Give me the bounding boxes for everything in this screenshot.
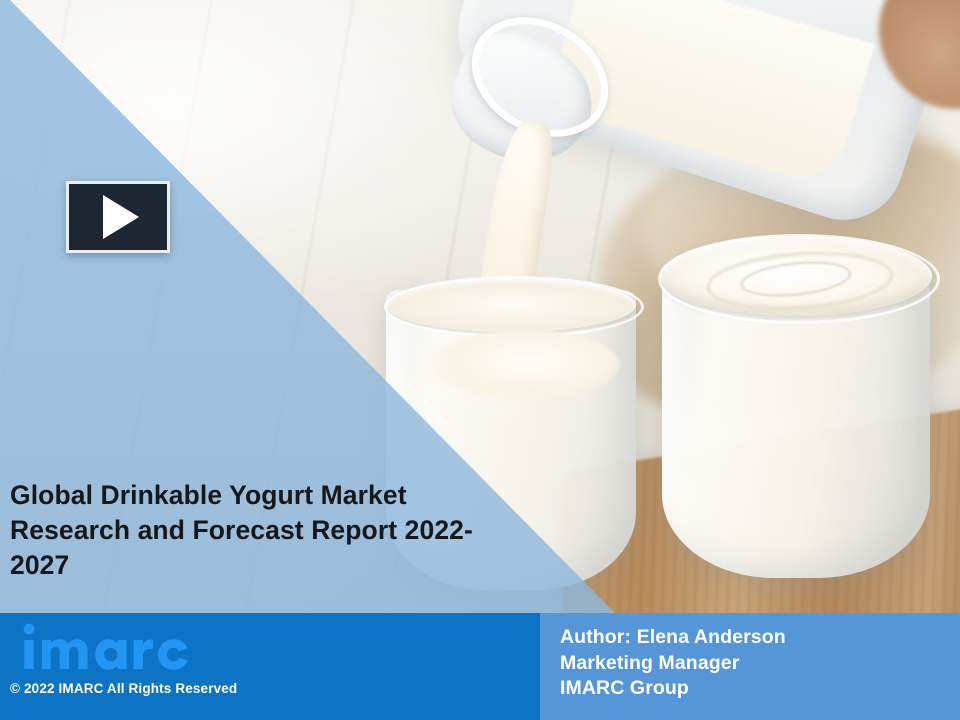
- play-video-button[interactable]: [66, 181, 170, 253]
- copyright-text: © 2022 IMARC All Rights Reserved: [10, 681, 237, 696]
- report-cover-slide: Global Drinkable Yogurt Market Research …: [0, 0, 960, 720]
- author-name-line: Author: Elena Anderson: [552, 625, 960, 651]
- play-triangle-icon: [103, 195, 139, 239]
- milk-splash: [430, 330, 620, 400]
- imarc-logo[interactable]: [16, 621, 196, 673]
- glass-rim-right: [658, 234, 940, 324]
- page-title: Global Drinkable Yogurt Market Research …: [10, 478, 510, 583]
- author-role-line: Marketing Manager: [552, 651, 960, 677]
- glass-rim-left: [384, 276, 644, 338]
- author-company-line: IMARC Group: [552, 676, 960, 702]
- author-panel: Author: Elena Anderson Marketing Manager…: [540, 613, 960, 720]
